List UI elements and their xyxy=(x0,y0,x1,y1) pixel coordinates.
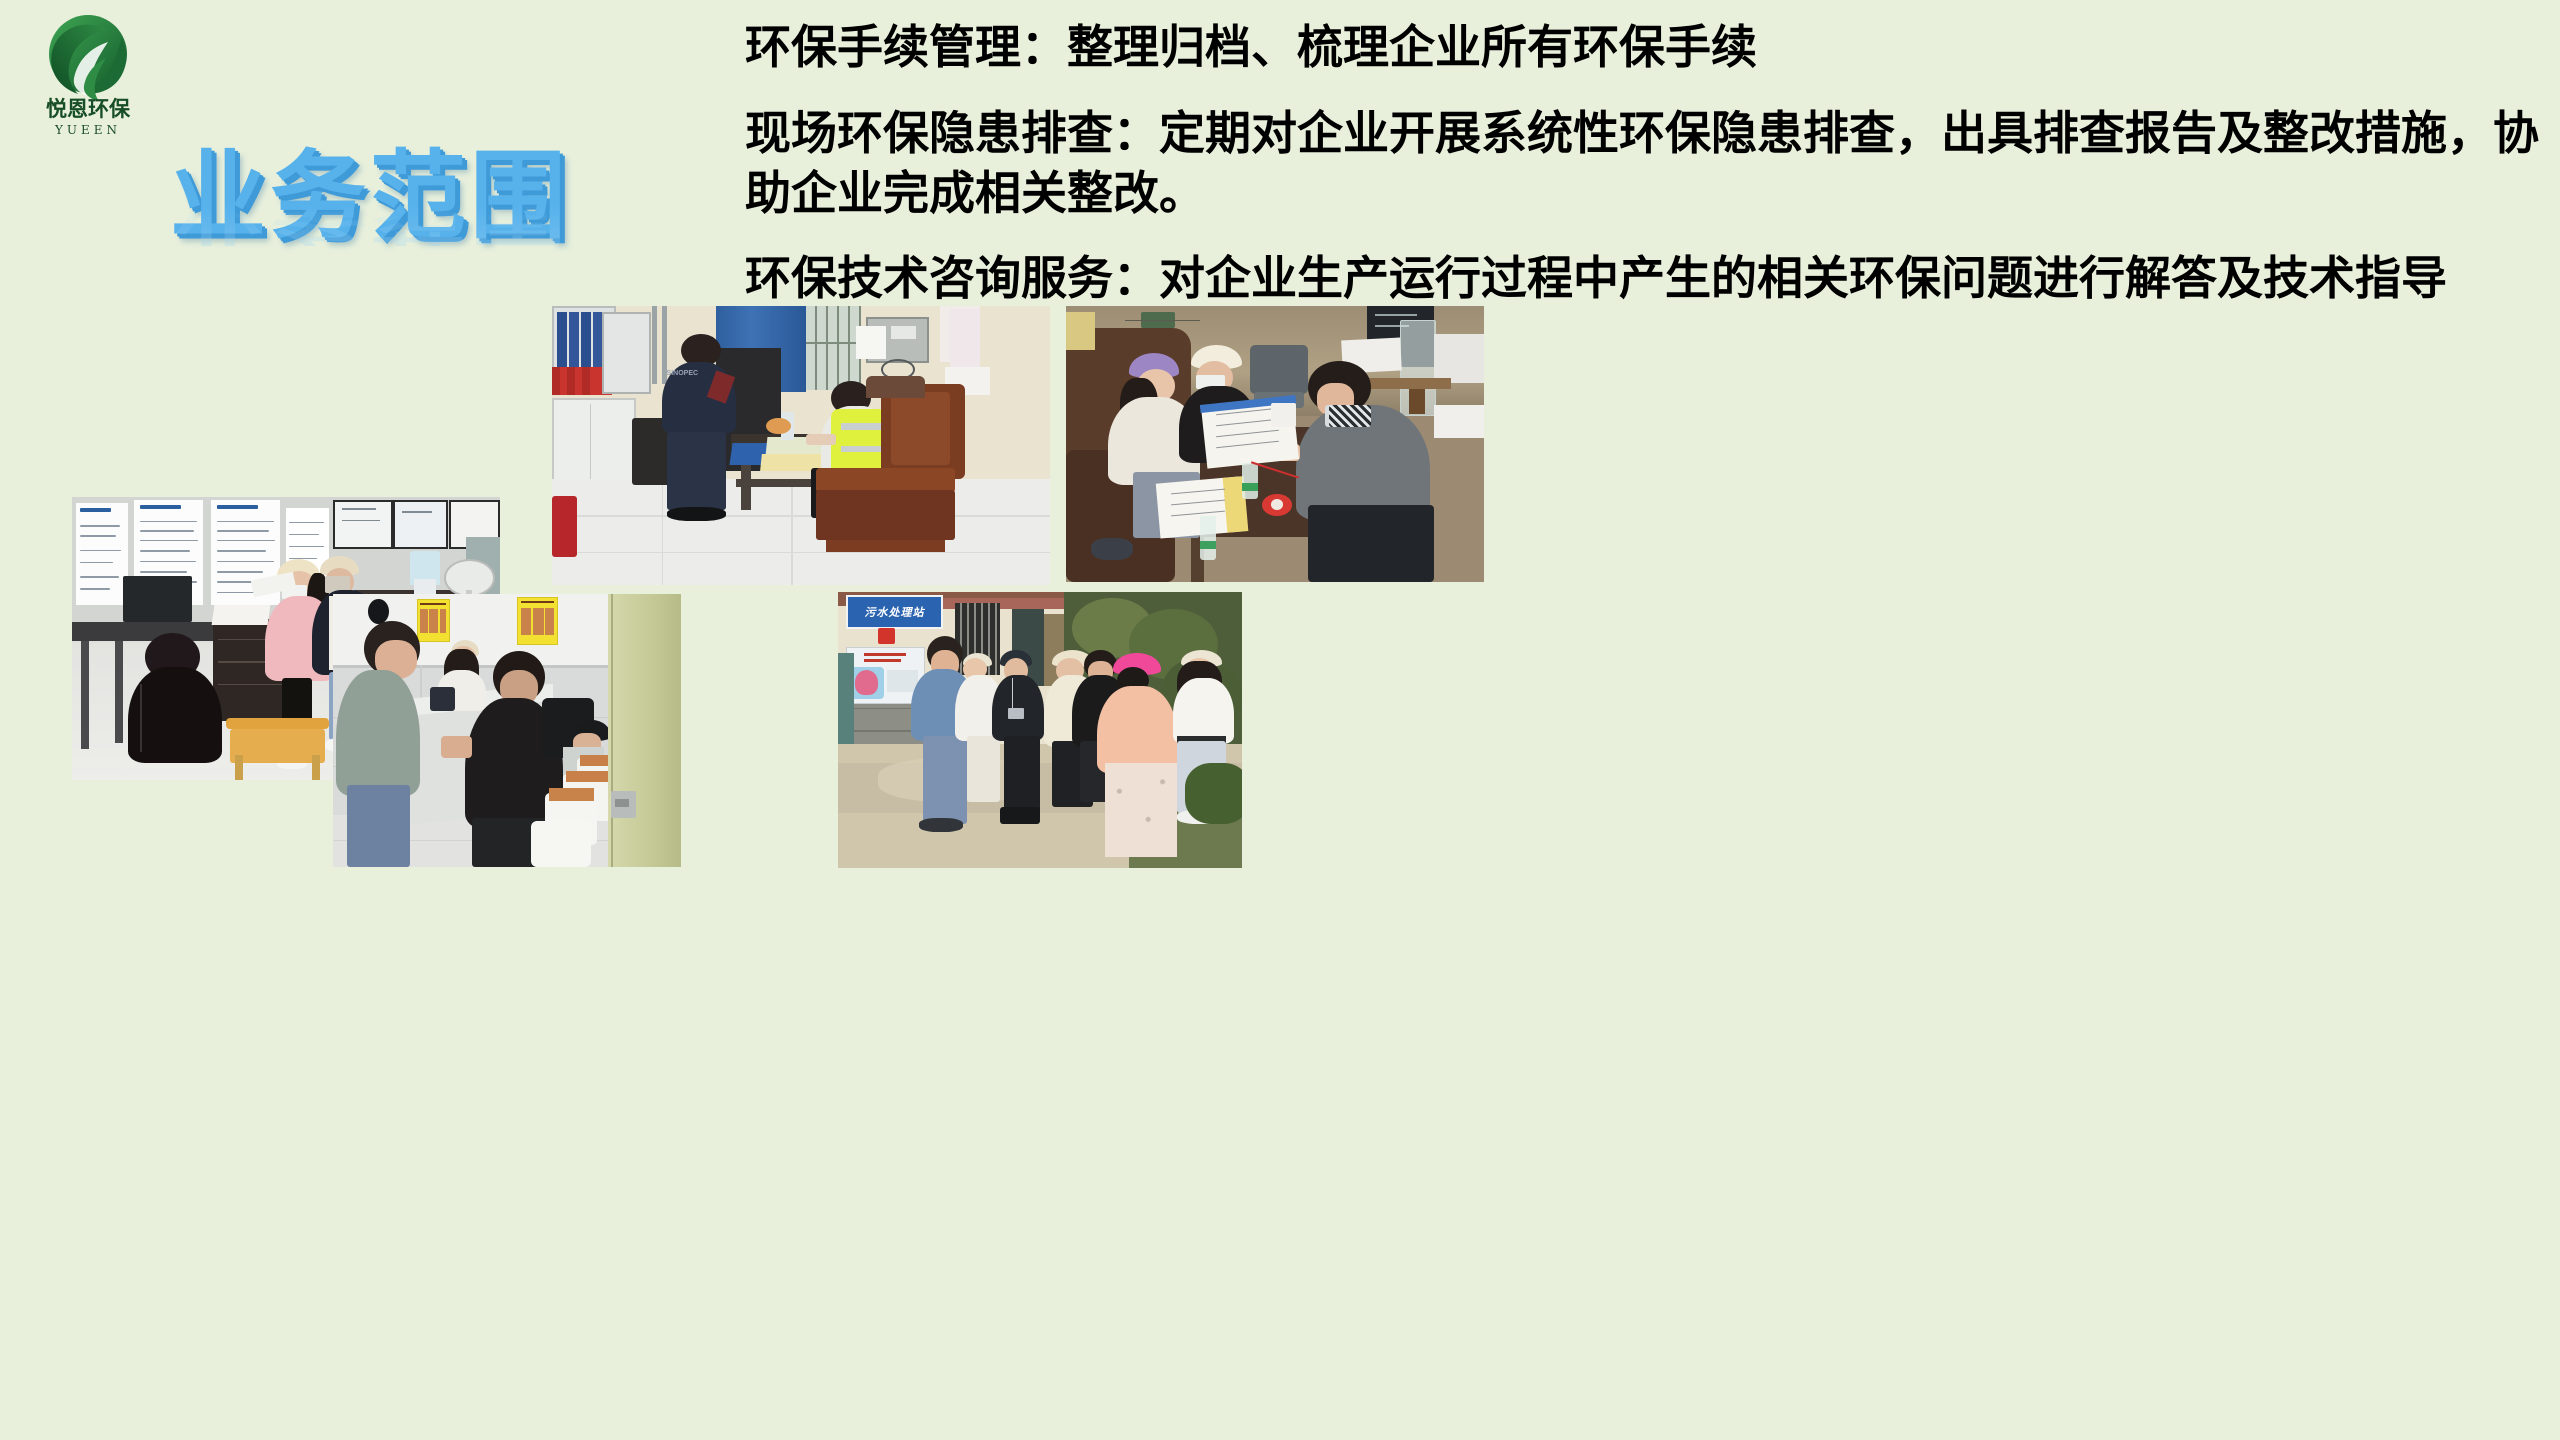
hazwaste-placard-1 xyxy=(417,599,450,642)
paragraph-2: 现场环保隐患排查：定期对企业开展系统性环保隐患排查，出具排查报告及整改措施，协助… xyxy=(745,104,2545,224)
paragraph-3: 环保技术咨询服务：对企业生产运行过程中产生的相关环保问题进行解答及技术指导 xyxy=(745,249,2545,309)
wastewater-station-sign-text: 污水处理站 xyxy=(848,597,941,627)
hazwaste-placard-2 xyxy=(517,597,557,645)
logo-chinese-name: 悦恩环保 xyxy=(46,97,131,121)
photo-hazardous-waste-storage xyxy=(333,594,681,867)
photo-site-interview-records xyxy=(1066,306,1484,582)
slide-title-block: 业务范围 业务范围 xyxy=(170,148,600,298)
logo-mark-icon: 悦恩环保 YUEEN xyxy=(22,8,154,140)
paragraph-1: 环保手续管理：整理归档、梳理企业所有环保手续 xyxy=(745,18,2545,78)
photo-wastewater-station-briefing: 污水处理站 xyxy=(838,592,1242,868)
wastewater-station-sign: 污水处理站 xyxy=(846,595,943,629)
slide-title-reflection: 业务范围 xyxy=(170,193,600,246)
company-logo: 悦恩环保 YUEEN xyxy=(22,8,154,140)
photo-sinopec-station-inspection: SINOPEC xyxy=(552,306,1050,585)
content-paragraphs: 环保手续管理：整理归档、梳理企业所有环保手续 现场环保隐患排查：定期对企业开展系… xyxy=(745,18,2545,335)
slide-root: 悦恩环保 YUEEN 业务范围 业务范围 环保手续管理：整理归档、梳理企业所有环… xyxy=(0,0,2560,1440)
logo-latin-name: YUEEN xyxy=(54,123,121,137)
uniform-text: SINOPEC xyxy=(667,370,707,384)
